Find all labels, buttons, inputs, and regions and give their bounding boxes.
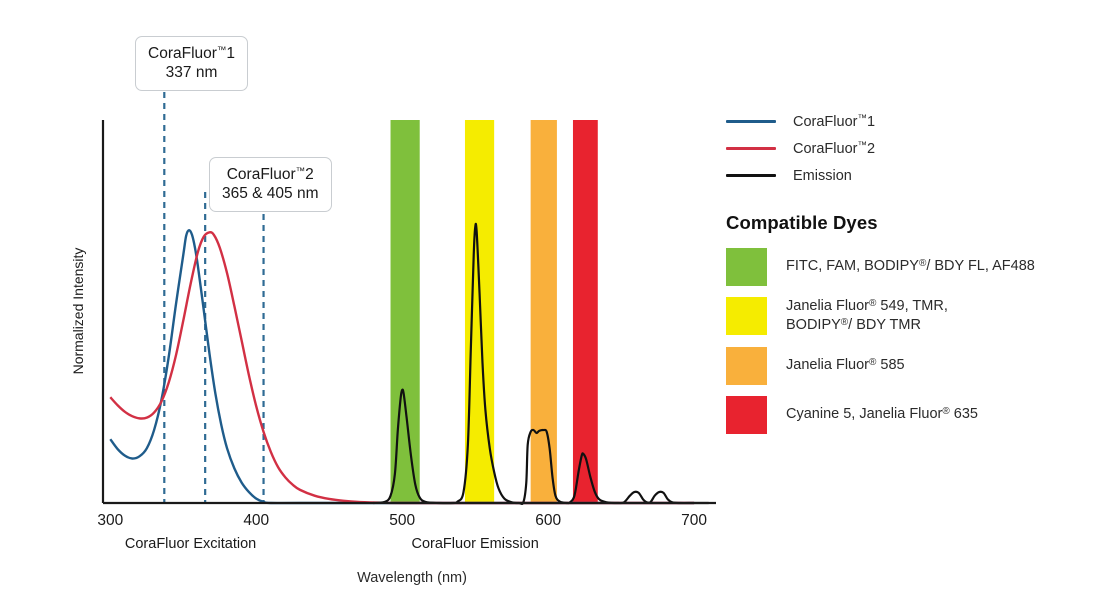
callout-cf1-name: CoraFluor xyxy=(148,45,217,62)
callout-cf2-value: 365 & 405 nm xyxy=(222,184,319,203)
dye-label-line: FITC, FAM, BODIPY®/ BDY FL, AF488 xyxy=(786,257,1035,276)
callout-cf1-number: 1 xyxy=(226,45,235,62)
callout-corafluor-1: CoraFluor™1 337 nm xyxy=(135,36,248,91)
legend-line-swatch-corafluor-2 xyxy=(726,147,776,150)
callout-cf2-title: CoraFluor™2 xyxy=(222,165,319,184)
dye-label-text: FITC, FAM, BODIPY xyxy=(786,258,919,274)
dye-label-text: BODIPY xyxy=(786,317,841,333)
legend-item-corafluor-1: CoraFluor™1 xyxy=(726,108,1096,135)
dye-label-text: / BDY TMR xyxy=(848,317,921,333)
dye-label-text: / BDY FL, AF488 xyxy=(926,258,1035,274)
red-band xyxy=(573,120,598,503)
compatible-dyes-title: Compatible Dyes xyxy=(726,212,1096,234)
callout-cf1-title: CoraFluor™1 xyxy=(148,44,235,63)
dye-swatch-janelia-585 xyxy=(726,347,767,385)
dye-label-text: 585 xyxy=(876,357,904,373)
x-tick-label-400: 400 xyxy=(243,512,269,529)
dye-label-line: Janelia Fluor® 585 xyxy=(786,356,905,375)
x-tick-label-600: 600 xyxy=(535,512,561,529)
x-axis-title: Wavelength (nm) xyxy=(357,570,467,586)
dye-label-text: 635 xyxy=(950,406,978,422)
y-axis-title: Normalized Intensity xyxy=(70,248,86,375)
trademark-icon: ™ xyxy=(857,113,867,124)
dye-row-janelia-585: Janelia Fluor® 585 xyxy=(726,347,1096,385)
legend: CoraFluor™1CoraFluor™2Emission Compatibl… xyxy=(726,108,1096,445)
dye-label-line: Cyanine 5, Janelia Fluor® 635 xyxy=(786,405,978,424)
legend-label-corafluor-2: CoraFluor™2 xyxy=(793,140,875,157)
dye-row-fitc-fam-bodipy-af488: FITC, FAM, BODIPY®/ BDY FL, AF488 xyxy=(726,248,1096,286)
trademark-icon: ™ xyxy=(296,166,306,177)
dye-label-cyanine5-janelia-635: Cyanine 5, Janelia Fluor® 635 xyxy=(786,405,978,424)
excitation-marker-lines xyxy=(164,92,263,503)
legend-label-text: Emission xyxy=(793,168,852,184)
legend-line-swatch-emission xyxy=(726,174,776,177)
dye-label-janelia-549-tmr-bodipy-tmr: Janelia Fluor® 549, TMR,BODIPY®/ BDY TMR xyxy=(786,297,948,336)
legend-label-text: CoraFluor xyxy=(793,141,857,157)
x-tick-label-700: 700 xyxy=(681,512,707,529)
trademark-icon: ™ xyxy=(857,140,867,151)
x-tick-label-500: 500 xyxy=(389,512,415,529)
x-tick-label-300: 300 xyxy=(97,512,123,529)
dye-row-cyanine5-janelia-635: Cyanine 5, Janelia Fluor® 635 xyxy=(726,396,1096,434)
excitation-region-label: CoraFluor Excitation xyxy=(125,536,256,552)
trademark-icon: ™ xyxy=(217,45,227,56)
legend-label-corafluor-1: CoraFluor™1 xyxy=(793,113,875,130)
dye-swatch-cyanine5-janelia-635 xyxy=(726,396,767,434)
registered-icon: ® xyxy=(942,406,949,417)
callout-corafluor-2: CoraFluor™2 365 & 405 nm xyxy=(209,157,332,212)
emission-region-label: CoraFluor Emission xyxy=(412,536,539,552)
dye-swatch-fitc-fam-bodipy-af488 xyxy=(726,248,767,286)
legend-item-corafluor-2: CoraFluor™2 xyxy=(726,135,1096,162)
dye-label-line: BODIPY®/ BDY TMR xyxy=(786,316,948,335)
orange-band xyxy=(531,120,557,503)
dye-label-text: Cyanine 5, Janelia Fluor xyxy=(786,406,942,422)
callout-cf2-number: 2 xyxy=(305,166,314,183)
legend-label-text: CoraFluor xyxy=(793,114,857,130)
legend-label-suffix: 2 xyxy=(867,141,875,157)
figure-root: 300400500600700CoraFluor ExcitationCoraF… xyxy=(0,0,1110,612)
dye-row-janelia-549-tmr-bodipy-tmr: Janelia Fluor® 549, TMR,BODIPY®/ BDY TMR xyxy=(726,297,1096,336)
chart-axis-labels: 300400500600700CoraFluor ExcitationCoraF… xyxy=(70,248,707,586)
dye-label-fitc-fam-bodipy-af488: FITC, FAM, BODIPY®/ BDY FL, AF488 xyxy=(786,257,1035,276)
legend-label-suffix: 1 xyxy=(867,114,875,130)
compatible-dyes-list: FITC, FAM, BODIPY®/ BDY FL, AF488Janelia… xyxy=(726,248,1096,434)
dye-label-text: Janelia Fluor xyxy=(786,357,869,373)
legend-series-list: CoraFluor™1CoraFluor™2Emission xyxy=(726,108,1096,189)
legend-label-emission: Emission xyxy=(793,168,852,184)
green-band xyxy=(391,120,420,503)
dye-swatch-janelia-549-tmr-bodipy-tmr xyxy=(726,297,767,335)
dye-label-text: Janelia Fluor xyxy=(786,298,869,314)
dye-label-janelia-585: Janelia Fluor® 585 xyxy=(786,356,905,375)
dye-label-text: 549, TMR, xyxy=(876,298,947,314)
callout-cf2-name: CoraFluor xyxy=(227,166,296,183)
callout-cf1-value: 337 nm xyxy=(148,63,235,82)
legend-line-swatch-corafluor-1 xyxy=(726,120,776,123)
dye-label-line: Janelia Fluor® 549, TMR, xyxy=(786,297,948,316)
legend-item-emission: Emission xyxy=(726,162,1096,189)
emission-filter-bands xyxy=(391,120,598,503)
